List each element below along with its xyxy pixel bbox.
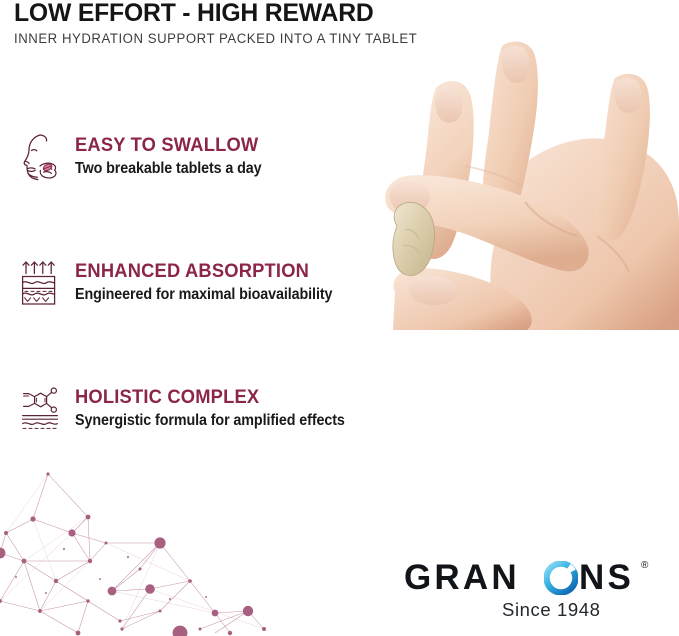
feature-description-2: Engineered for maximal bioavailability [75,286,332,304]
brand-name-part-2: NS [579,558,634,598]
feature-description-1: Two breakable tablets a day [75,160,262,178]
page-title: LOW EFFORT - HIGH REWARD [14,0,529,26]
face-swallowing-tablet-icon [20,132,66,184]
feature-text-3: HOLISTIC COMPLEX Synergistic formula for… [75,386,365,430]
feature-heading-3: HOLISTIC COMPLEX [75,386,348,408]
feature-item-easy-to-swallow: EASY TO SWALLOW Two breakable tablets a … [0,132,390,192]
infographic-root: LOW EFFORT - HIGH REWARD INNER HYDRATION… [0,0,679,636]
molecule-complex-icon [20,384,66,436]
feature-heading-2: ENHANCED ABSORPTION [75,260,335,282]
hand-pinky-fingernail [614,78,641,113]
brand-wordmark: GRAN NS ® [398,558,654,598]
feature-item-holistic-complex: HOLISTIC COMPLEX Synergistic formula for… [0,384,390,444]
feature-description-3: Synergistic formula for amplified effect… [75,412,345,430]
brand-logo: GRAN NS ® Since 1948 [398,558,658,628]
brand-name-part-1: GRAN [404,558,520,598]
feature-text-2: ENHANCED ABSORPTION Engineered for maxim… [75,260,352,304]
skin-layers-absorption-icon [20,258,66,310]
molecular-network-graphic [0,461,300,636]
hand-ring-fingernail [435,87,462,123]
blue-ring-letter-o-icon [544,561,578,595]
feature-text-1: EASY TO SWALLOW Two breakable tablets a … [75,134,276,178]
brand-tagline: Since 1948 [502,599,601,621]
tablet-product [393,202,435,275]
hand-holding-tablet-photo [379,40,679,330]
feature-list: EASY TO SWALLOW Two breakable tablets a … [0,132,390,510]
feature-heading-1: EASY TO SWALLOW [75,134,264,156]
feature-item-enhanced-absorption: ENHANCED ABSORPTION Engineered for maxim… [0,258,390,318]
registered-trademark-icon: ® [641,560,648,571]
